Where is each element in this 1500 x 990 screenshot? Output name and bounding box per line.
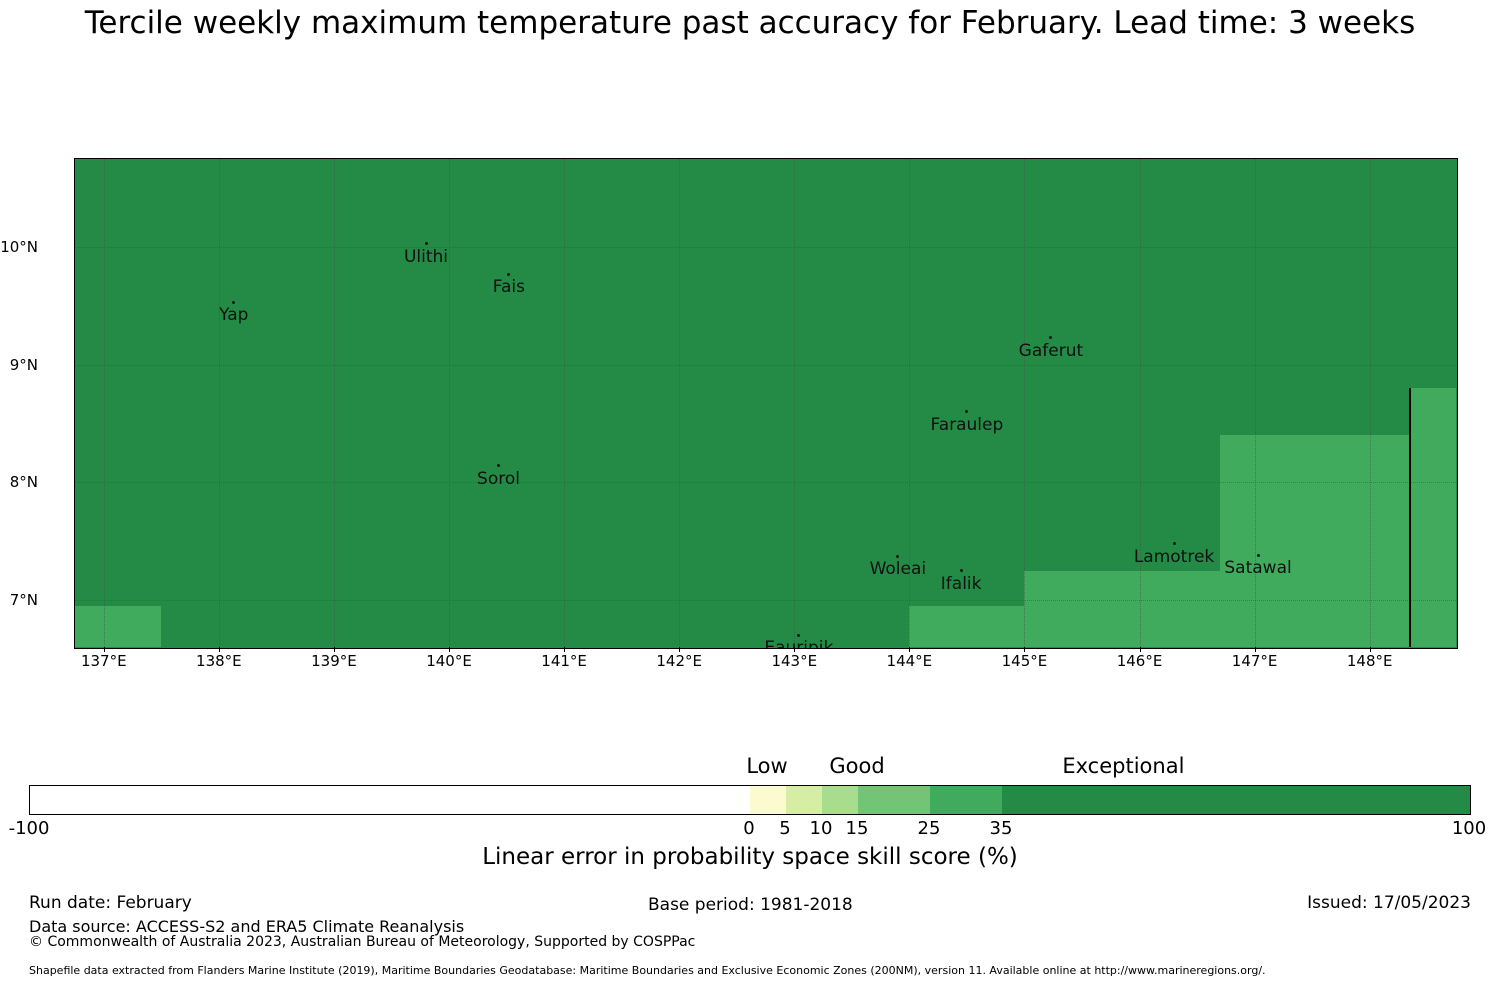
- colorbar-tick-label: 0: [743, 818, 754, 839]
- footer-copyright: © Commonwealth of Australia 2023, Austra…: [29, 934, 695, 950]
- gridline-vertical: [219, 159, 220, 647]
- gridline-horizontal: [75, 247, 1456, 248]
- x-axis-tick-label: 138°E: [196, 652, 242, 670]
- figure-root: Tercile weekly maximum temperature past …: [0, 0, 1500, 990]
- gridline-vertical: [1024, 159, 1025, 647]
- colorbar-segment: [822, 786, 858, 814]
- colorbar-tick-label: 100: [1452, 818, 1486, 839]
- gridline-vertical: [679, 159, 680, 647]
- colorbar-tick-label: 10: [810, 818, 833, 839]
- island-label: Faraulep: [930, 415, 1003, 435]
- island-label: Lamotrek: [1134, 547, 1214, 567]
- gridline-horizontal: [75, 600, 1456, 601]
- colorbar-category-label: Good: [829, 754, 884, 778]
- island-label: Satawal: [1224, 558, 1291, 578]
- colorbar[interactable]: -1000510152535100 LowGoodExceptional: [29, 785, 1471, 815]
- island-label: Ifalik: [941, 574, 982, 594]
- colorbar-segment: [786, 786, 822, 814]
- heatmap-cell: [75, 606, 161, 647]
- island-label: Yap: [219, 305, 248, 325]
- x-axis-tick-mark: [449, 647, 450, 652]
- colorbar-segment: [1002, 786, 1470, 814]
- island-marker-dot: [425, 242, 428, 245]
- x-axis-tick-label: 142°E: [656, 652, 702, 670]
- x-axis-tick-mark: [909, 647, 910, 652]
- y-axis-tick-label: 9°N: [10, 356, 38, 374]
- x-axis-tick-label: 147°E: [1232, 652, 1278, 670]
- colorbar-segment: [30, 786, 750, 814]
- x-axis-tick-mark: [1140, 647, 1141, 652]
- island-label: Sorol: [477, 469, 520, 489]
- x-axis-tick-label: 141°E: [541, 652, 587, 670]
- x-axis-tick-label: 146°E: [1117, 652, 1163, 670]
- island-label: Eauripik: [764, 638, 833, 649]
- x-axis-tick-mark: [219, 647, 220, 652]
- x-axis-tick-mark: [1024, 647, 1025, 652]
- x-axis-tick-mark: [794, 647, 795, 652]
- page-title: Tercile weekly maximum temperature past …: [0, 4, 1500, 42]
- colorbar-tick-label: 35: [990, 818, 1013, 839]
- footer-shapefile-note: Shapefile data extracted from Flanders M…: [29, 964, 1266, 977]
- colorbar-tick-label: -100: [9, 818, 50, 839]
- x-axis-tick-label: 139°E: [311, 652, 357, 670]
- y-axis-tick-label: 7°N: [10, 591, 38, 609]
- x-axis-tick-mark: [1370, 647, 1371, 652]
- colorbar-tick-label: 25: [918, 818, 941, 839]
- gridline-vertical: [1370, 159, 1371, 647]
- y-axis-tick-label: 8°N: [10, 473, 38, 491]
- gridline-vertical: [564, 159, 565, 647]
- colorbar-segment: [930, 786, 1002, 814]
- heatmap-cell: [1024, 571, 1410, 647]
- footer-issued: Issued: 17/05/2023: [1307, 893, 1471, 913]
- x-axis-tick-mark: [564, 647, 565, 652]
- x-axis-tick-label: 144°E: [887, 652, 933, 670]
- gridline-vertical: [1140, 159, 1141, 647]
- eez-boundary-line: [1409, 388, 1411, 647]
- colorbar-segment: [750, 786, 786, 814]
- island-label: Woleai: [870, 559, 927, 579]
- x-axis-tick-label: 140°E: [426, 652, 472, 670]
- colorbar-tick-label: 15: [846, 818, 869, 839]
- colorbar-axis-label: Linear error in probability space skill …: [0, 844, 1500, 870]
- island-label: Fais: [493, 277, 525, 297]
- colorbar-tick-label: 5: [779, 818, 790, 839]
- colorbar-segment: [858, 786, 930, 814]
- gridline-vertical: [104, 159, 105, 647]
- heatmap-cell: [909, 606, 1024, 647]
- x-axis-tick-mark: [1255, 647, 1256, 652]
- y-axis-tick-label: 10°N: [0, 238, 38, 256]
- gridline-vertical: [794, 159, 795, 647]
- island-marker-dot: [1257, 554, 1260, 557]
- x-axis-tick-mark: [104, 647, 105, 652]
- x-axis-tick-mark: [334, 647, 335, 652]
- x-axis-tick-label: 148°E: [1347, 652, 1393, 670]
- colorbar-category-label: Exceptional: [1062, 754, 1184, 778]
- footer-base-period: Base period: 1981-2018: [648, 895, 853, 915]
- gridline-horizontal: [75, 365, 1456, 366]
- x-axis-tick-label: 143°E: [771, 652, 817, 670]
- colorbar-gradient: [29, 785, 1471, 815]
- x-axis-tick-label: 145°E: [1002, 652, 1048, 670]
- island-label: Gaferut: [1019, 341, 1083, 361]
- footer-run-date: Run date: February: [29, 893, 192, 913]
- colorbar-category-label: Low: [746, 754, 787, 778]
- heatmap-cell: [1410, 388, 1456, 647]
- map-plot-area[interactable]: YapUlithiFaisSorolGaferutFaraulepWoleaiI…: [74, 158, 1458, 649]
- island-marker-dot: [960, 569, 963, 572]
- gridline-vertical: [334, 159, 335, 647]
- island-label: Ulithi: [404, 247, 448, 267]
- x-axis-tick-mark: [679, 647, 680, 652]
- x-axis-tick-label: 137°E: [81, 652, 127, 670]
- gridline-vertical: [449, 159, 450, 647]
- gridline-horizontal: [75, 482, 1456, 483]
- heatmap-cell: [1220, 435, 1410, 570]
- island-marker-dot: [1173, 542, 1176, 545]
